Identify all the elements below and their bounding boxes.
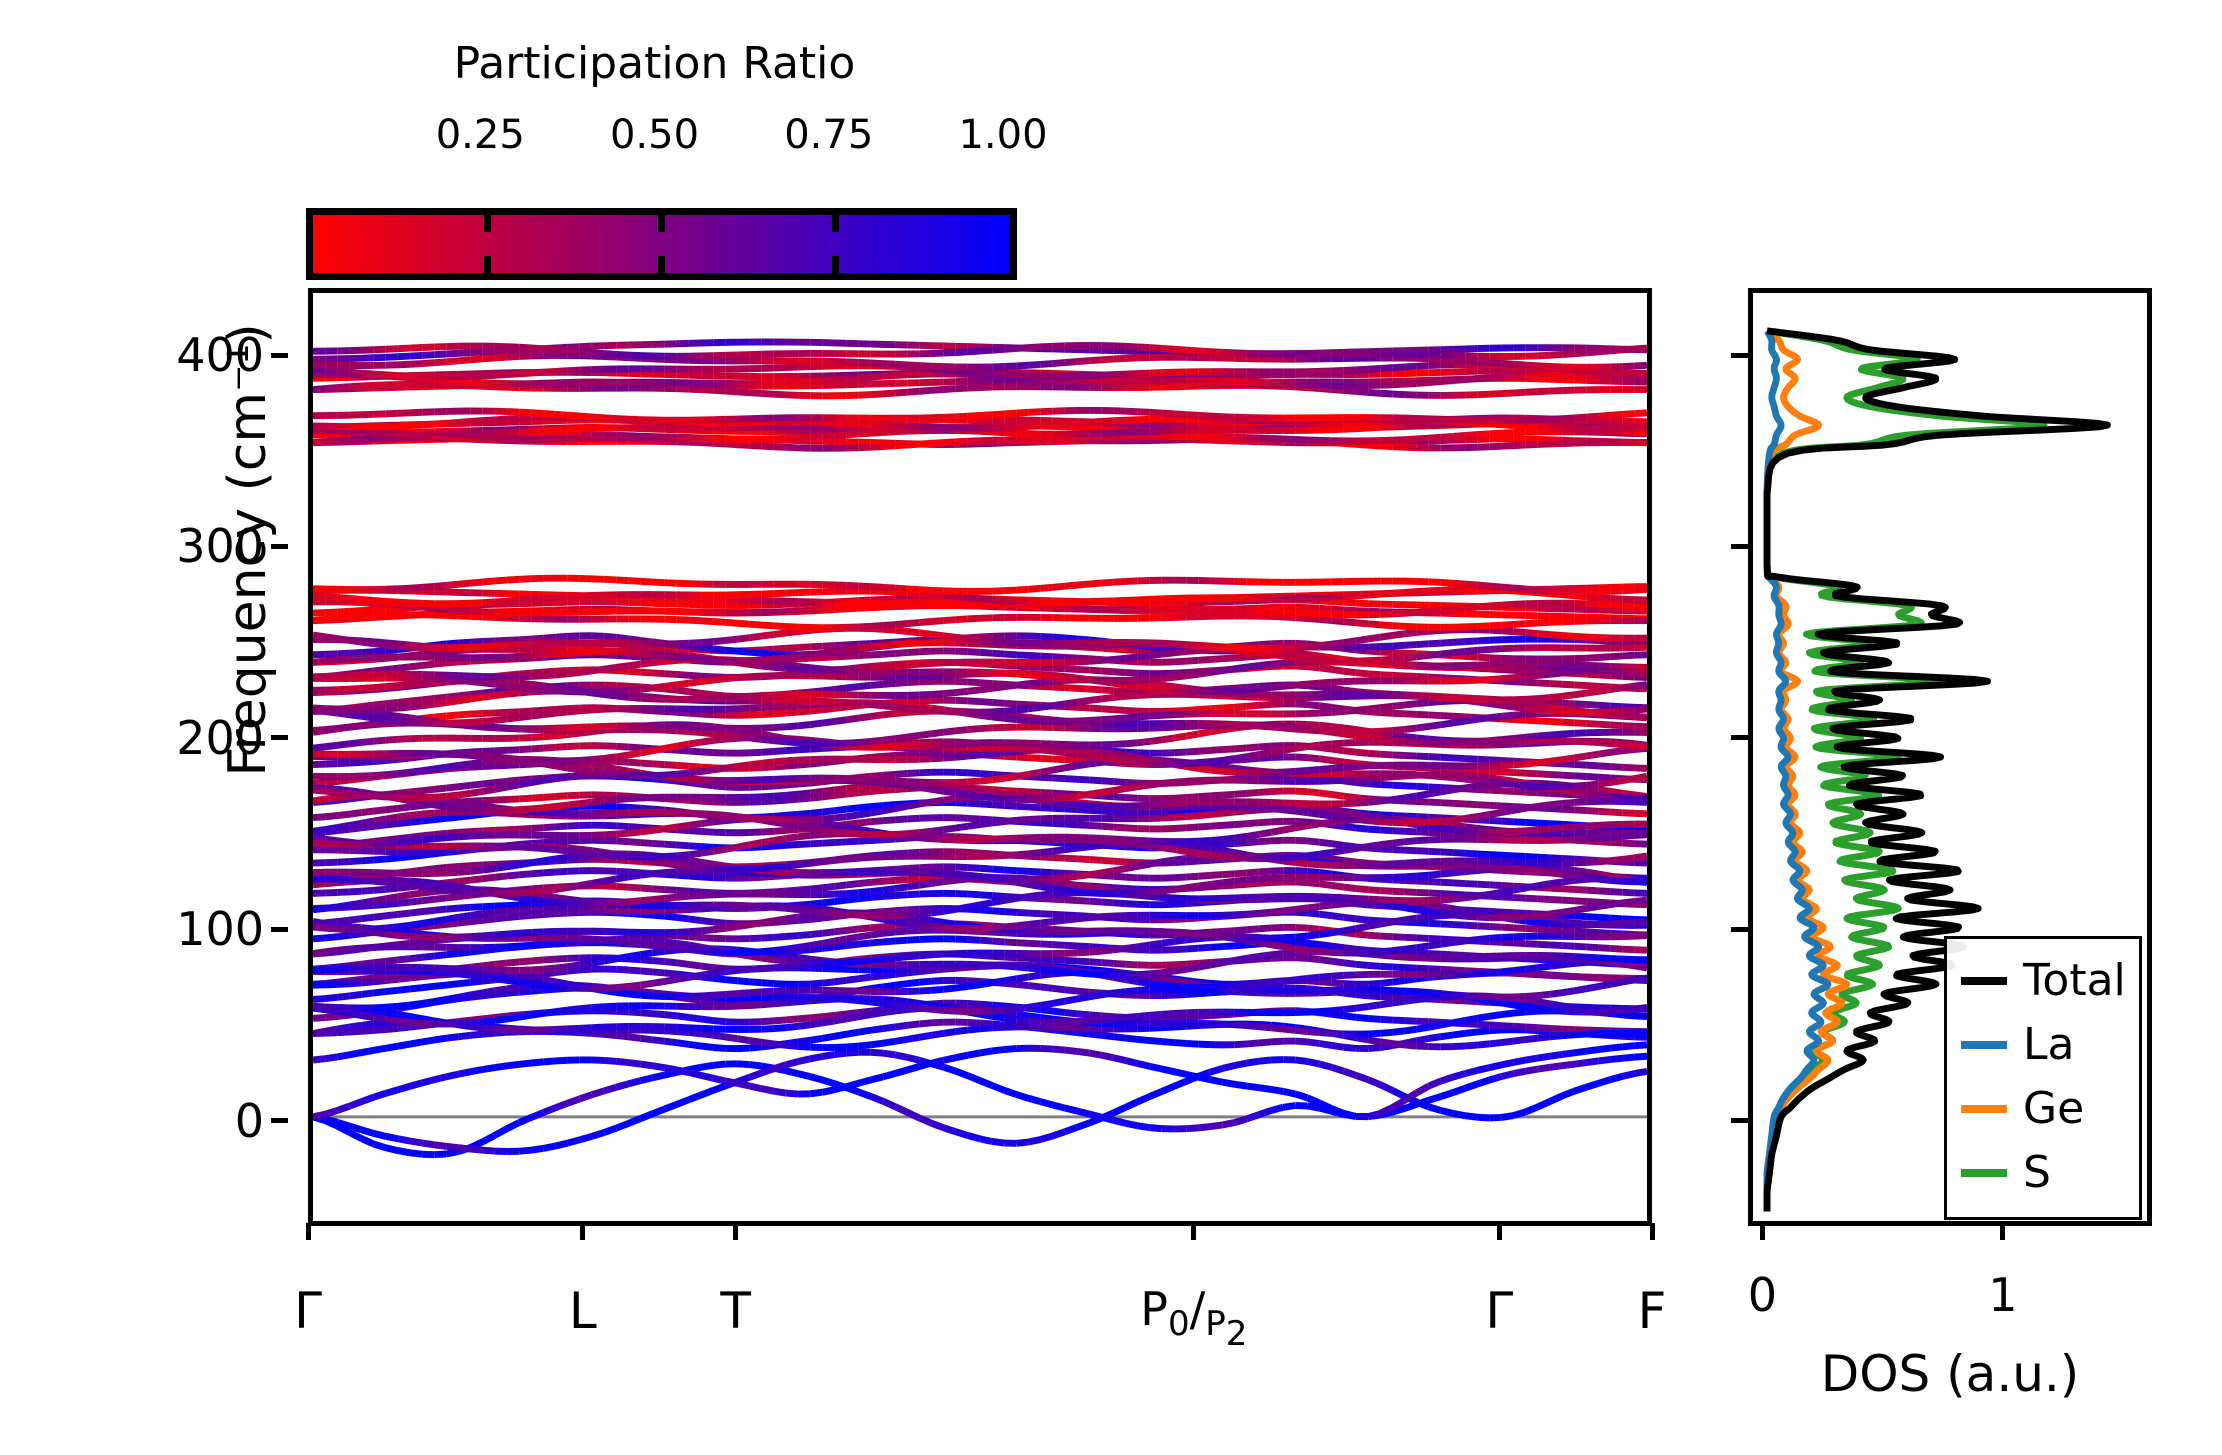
y-axis-tick-label: 200: [176, 711, 264, 765]
band-structure-plot: [308, 288, 1652, 1226]
y-axis-tick-label: 300: [176, 519, 264, 573]
dos-legend: TotalLaGeS: [1944, 936, 2142, 1220]
colorbar-tick-mark: [832, 215, 839, 232]
colorbar-tick-label: 0.75: [784, 112, 873, 158]
dos-x-axis-tick-labels: 01: [1748, 1240, 2152, 1310]
dos-x-tick-label: 1: [1988, 1268, 2017, 1322]
y-axis-tick-labels: 0100200300400: [110, 288, 288, 1226]
dos-x-axis-label: DOS (a.u.): [1720, 1345, 2180, 1403]
band-x-tick-label: P0/P2: [1140, 1282, 1247, 1336]
legend-item: Total: [1961, 949, 2125, 1013]
dos-y-axis-tick-mark: [1731, 927, 1748, 932]
legend-line-swatch: [1961, 1041, 2007, 1049]
band-x-tick-mark: [306, 1223, 311, 1240]
legend-item: La: [1961, 1013, 2125, 1077]
colorbar: [306, 208, 1017, 280]
legend-label: Total: [2023, 959, 2126, 1003]
legend-line-swatch: [1961, 977, 2007, 985]
legend-line-swatch: [1961, 1105, 2007, 1113]
y-axis-tick-label: 100: [176, 902, 264, 956]
dos-y-axis-tick-mark: [1731, 735, 1748, 740]
band-x-tick-label: Γ: [294, 1282, 322, 1340]
dos-y-axis-tick-mark: [1731, 544, 1748, 549]
band-x-tick-label: Γ: [1485, 1282, 1513, 1340]
legend-line-swatch: [1961, 1169, 2007, 1177]
dos-y-axis-tick-mark: [1731, 1118, 1748, 1123]
band-structure-svg: [313, 293, 1647, 1221]
colorbar-tick-label: 0.25: [436, 112, 525, 158]
dos-x-tick-label: 0: [1748, 1268, 1777, 1322]
band-x-tick-mark: [1497, 1223, 1502, 1240]
band-x-tick-mark: [1191, 1223, 1196, 1240]
y-axis-tick-mark: [271, 735, 288, 740]
colorbar-title: Participation Ratio: [306, 38, 1003, 89]
legend-label: La: [2023, 1023, 2074, 1067]
band-x-tick-label: L: [569, 1282, 597, 1340]
colorbar-tick-mark: [658, 256, 665, 273]
band-x-tick-mark: [580, 1223, 585, 1240]
figure-canvas: Participation Ratio 0.250.500.751.00 Fre…: [0, 0, 2222, 1455]
colorbar-tick-mark: [658, 215, 665, 232]
band-x-tick-label: F: [1638, 1282, 1667, 1340]
band-x-tick-mark: [1650, 1223, 1655, 1240]
phonon-band: [313, 1060, 1647, 1155]
colorbar-tick-labels: 0.250.500.751.00: [306, 112, 1003, 162]
colorbar-tick-mark: [484, 215, 491, 232]
band-x-tick-mark: [733, 1223, 738, 1240]
y-axis-tick-label: 400: [176, 328, 264, 382]
y-axis-tick-mark: [271, 353, 288, 358]
legend-item: Ge: [1961, 1077, 2125, 1141]
band-x-tick-label: T: [720, 1282, 751, 1340]
colorbar-tick-mark: [832, 256, 839, 273]
y-axis-tick-label: 0: [235, 1094, 264, 1148]
legend-label: Ge: [2023, 1087, 2084, 1131]
colorbar-tick-label: 1.00: [958, 112, 1047, 158]
legend-item: S: [1961, 1141, 2125, 1205]
y-axis-tick-mark: [271, 1118, 288, 1123]
dos-x-tick-mark: [1760, 1223, 1765, 1240]
y-axis-tick-mark: [271, 544, 288, 549]
band-x-axis-tick-labels: ΓLTP0/P2ΓF: [308, 1240, 1652, 1350]
y-axis-tick-mark: [271, 927, 288, 932]
colorbar-tick-label: 0.50: [610, 112, 699, 158]
dos-y-axis-tick-mark: [1731, 353, 1748, 358]
legend-label: S: [2023, 1151, 2051, 1195]
dos-x-tick-mark: [2000, 1223, 2005, 1240]
colorbar-tick-mark: [484, 256, 491, 273]
